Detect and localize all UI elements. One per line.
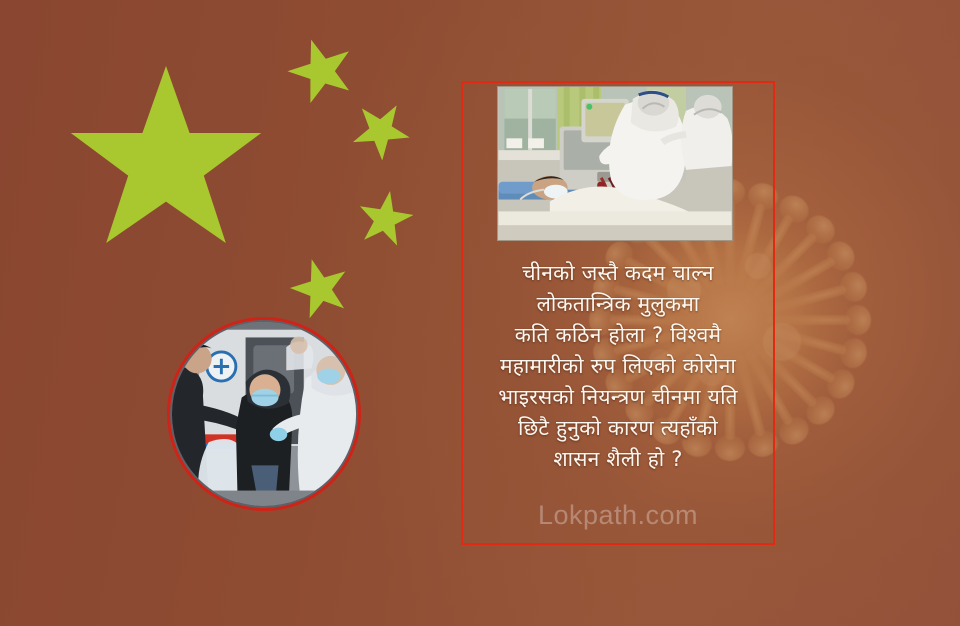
headline-line-1: चीनको जस्तै कदम चाल्न [463, 258, 773, 289]
flag-star-small-1-icon [287, 36, 355, 104]
flag-star-large-icon [66, 60, 266, 260]
headline-line-2: लोकतान्त्रिक मुलुकमा [463, 289, 773, 320]
poster-canvas: चीनको जस्तै कदम चाल्न लोकतान्त्रिक मुलुक… [0, 0, 960, 626]
site-watermark: Lokpath.com [463, 500, 773, 531]
headline-line-6: छिटै हुनुको कारण त्यहाँको [463, 413, 773, 444]
flag-star-small-3-icon [355, 190, 413, 248]
hospital-icu-photo [497, 86, 733, 241]
headline-line-4: महामारीको रुप लिएको कोरोना [463, 351, 773, 382]
flag-star-small-4-icon [288, 258, 350, 320]
headline-line-3: कति कठिन होला ? विश्वमै [463, 320, 773, 351]
ambulance-photo-circle [167, 317, 361, 511]
flag-star-small-2-icon [350, 100, 410, 160]
headline-line-7: शासन शैली हो ? [463, 444, 773, 475]
headline-text: चीनको जस्तै कदम चाल्न लोकतान्त्रिक मुलुक… [463, 258, 773, 475]
headline-line-5: भाइरसको नियन्त्रण चीनमा यति [463, 382, 773, 413]
